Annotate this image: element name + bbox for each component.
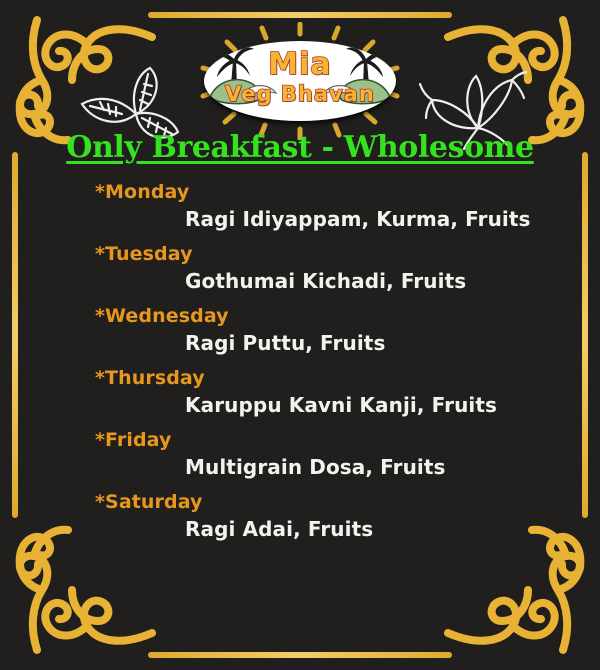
- day-label-thursday: *Thursday: [0, 366, 600, 391]
- day-label-tuesday: *Tuesday: [0, 242, 600, 267]
- dish-text-friday: Multigrain Dosa, Fruits: [0, 453, 600, 481]
- menu-row-monday: *Monday Ragi Idiyappam, Kurma, Fruits: [0, 180, 600, 233]
- dish-text-saturday: Ragi Adai, Fruits: [0, 515, 600, 543]
- day-label-friday: *Friday: [0, 428, 600, 453]
- logo-subtitle: Veg Bhavan: [204, 83, 396, 105]
- day-label-saturday: *Saturday: [0, 490, 600, 515]
- day-label-monday: *Monday: [0, 180, 600, 205]
- border-line-bottom: [148, 652, 452, 658]
- weekly-menu-list: *Monday Ragi Idiyappam, Kurma, Fruits *T…: [0, 180, 600, 552]
- menu-row-wednesday: *Wednesday Ragi Puttu, Fruits: [0, 304, 600, 357]
- menu-row-friday: *Friday Multigrain Dosa, Fruits: [0, 428, 600, 481]
- dish-text-wednesday: Ragi Puttu, Fruits: [0, 329, 600, 357]
- dish-text-thursday: Karuppu Kavni Kanji, Fruits: [0, 391, 600, 419]
- menu-row-tuesday: *Tuesday Gothumai Kichadi, Fruits: [0, 242, 600, 295]
- menu-row-thursday: *Thursday Karuppu Kavni Kanji, Fruits: [0, 366, 600, 419]
- dish-text-monday: Ragi Idiyappam, Kurma, Fruits: [0, 205, 600, 233]
- logo-name: Mia: [204, 50, 396, 80]
- page-title: Only Breakfast - Wholesome: [0, 131, 600, 165]
- dish-text-tuesday: Gothumai Kichadi, Fruits: [0, 267, 600, 295]
- day-label-wednesday: *Wednesday: [0, 304, 600, 329]
- menu-poster: Mia Veg Bhavan Only Breakfast - Wholesom…: [0, 0, 600, 670]
- logo: Mia Veg Bhavan: [165, 22, 435, 140]
- border-line-top: [148, 12, 452, 18]
- logo-oval: Mia Veg Bhavan: [204, 41, 396, 121]
- menu-row-saturday: *Saturday Ragi Adai, Fruits: [0, 490, 600, 543]
